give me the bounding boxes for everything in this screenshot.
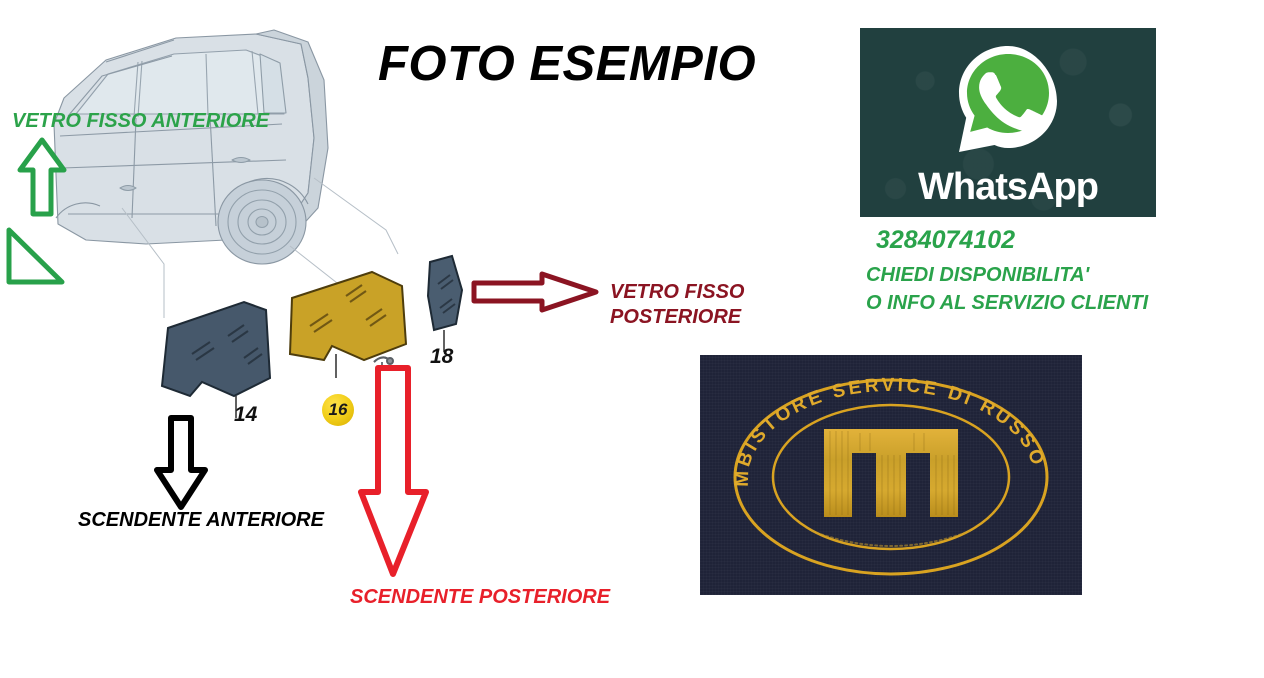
page-title: FOTO ESEMPIO — [378, 36, 756, 92]
shop-fineprint-arc — [812, 531, 970, 546]
shop-logo-photo: MRICAMBISTORE SERVICE DI RUSSO MARCO — [700, 355, 1082, 595]
black-down-arrow-icon — [152, 414, 210, 512]
shop-monogram — [824, 429, 958, 517]
part-18-shape — [428, 256, 462, 330]
label-line-2: POSTERIORE — [610, 305, 744, 330]
shop-ring-text: MRICAMBISTORE SERVICE DI RUSSO MARCO — [700, 355, 1050, 487]
label-scendente-posteriore: SCENDENTE POSTERIORE — [350, 586, 610, 609]
contact-line-1: CHIEDI DISPONIBILITA' — [866, 264, 1089, 287]
part-number-14: 14 — [234, 403, 257, 427]
maroon-right-arrow-icon — [470, 270, 600, 314]
part-14-shape — [162, 302, 270, 396]
label-vetro-fisso-anteriore: VETRO FISSO ANTERIORE — [12, 110, 269, 133]
phone-number[interactable]: 3284074102 — [876, 226, 1015, 255]
red-down-arrow-icon — [356, 364, 430, 579]
whatsapp-icon — [954, 42, 1062, 158]
label-scendente-anteriore: SCENDENTE ANTERIORE — [78, 509, 324, 532]
poster-canvas: 14 17 18 16 FOTO ESEMPIO VETRO FISSO ANT… — [0, 0, 1264, 678]
whatsapp-banner[interactable]: WhatsApp — [860, 28, 1156, 217]
part-16-shape — [290, 272, 406, 360]
label-line-1: VETRO FISSO — [610, 280, 744, 305]
label-vetro-fisso-posteriore: VETRO FISSO POSTERIORE — [610, 280, 744, 330]
shop-logo-emblem: MRICAMBISTORE SERVICE DI RUSSO MARCO — [700, 355, 1082, 595]
contact-line-2: O INFO AL SERVIZIO CLIENTI — [866, 292, 1148, 315]
part-number-badge-16: 16 — [322, 394, 354, 426]
part-number-18: 18 — [430, 345, 453, 369]
green-up-arrow-icon — [16, 136, 68, 220]
green-triangle-icon — [4, 224, 66, 288]
whatsapp-wordmark: WhatsApp — [860, 166, 1156, 209]
